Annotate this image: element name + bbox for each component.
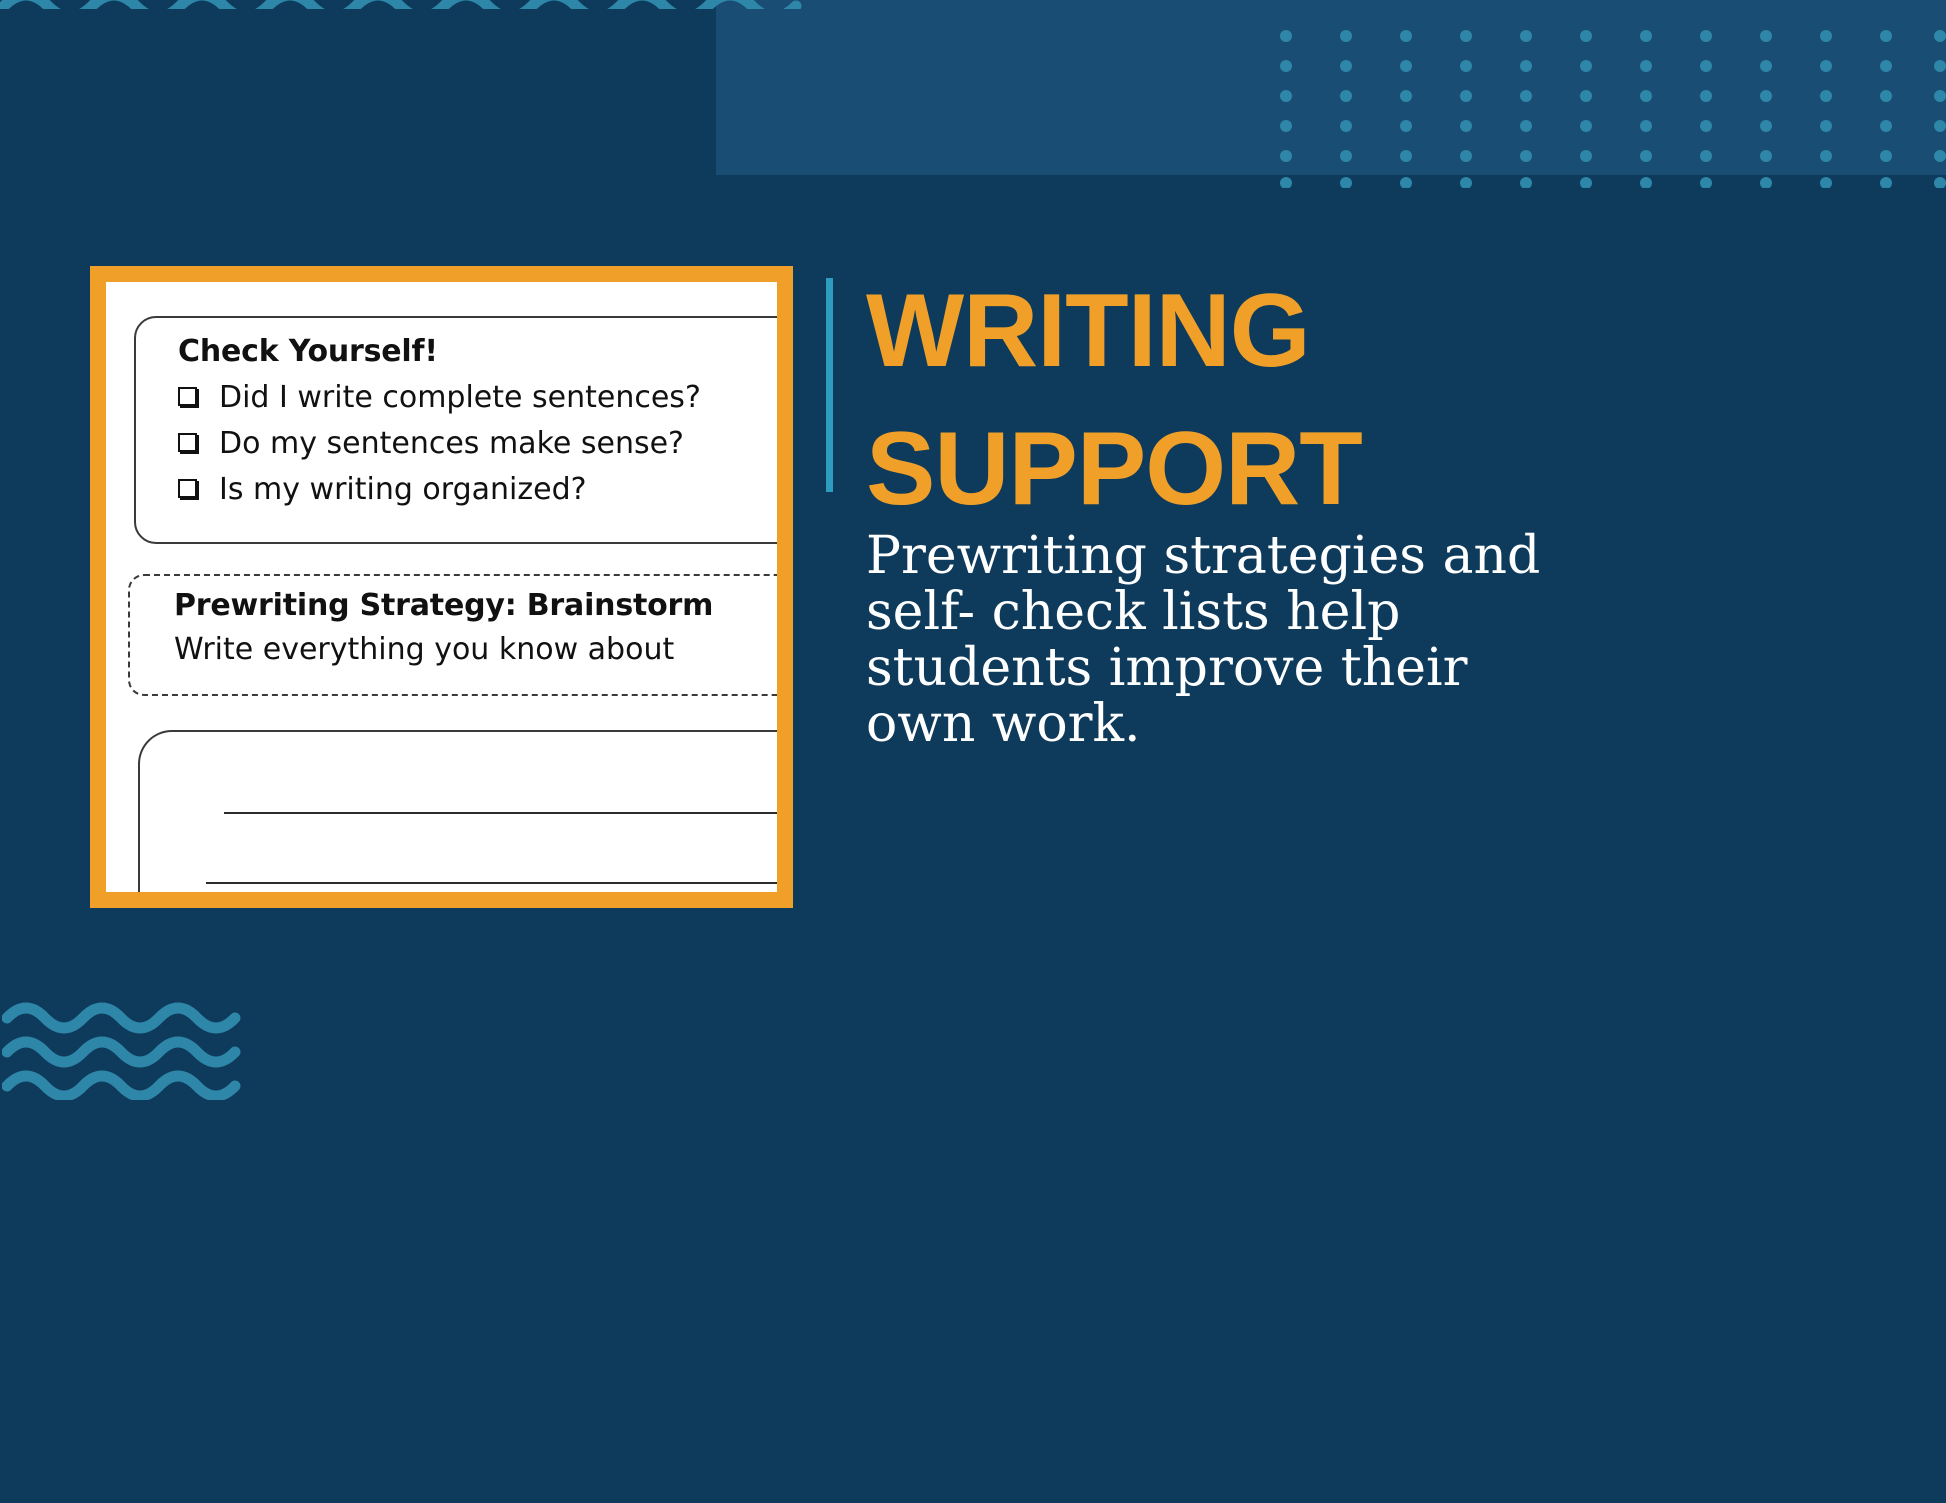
- prewriting-instruction: Write everything you know about: [174, 632, 674, 667]
- checklist-item-label: Do my sentences make sense?: [219, 426, 684, 461]
- body-paragraph: Prewriting strategies and self- check li…: [866, 528, 1546, 752]
- checkbox-icon: [178, 433, 197, 452]
- prewriting-heading: Prewriting Strategy: Brainstorm: [174, 588, 713, 623]
- checklist-item: Is my writing organized?: [178, 472, 587, 507]
- title-accent-bar: [826, 278, 833, 492]
- checklist-item: Did I write complete sentences?: [178, 380, 701, 415]
- page-title-line-1: WRITING: [866, 262, 1886, 400]
- wave-decoration: [2, 1000, 252, 1100]
- worksheet-image: Check Yourself! Did I write complete sen…: [106, 282, 777, 892]
- page-title-line-2: SUPPORT: [866, 400, 1886, 538]
- top-wave-decoration: [0, 0, 816, 9]
- writing-line: [224, 812, 777, 814]
- checklist-item: Do my sentences make sense?: [178, 426, 684, 461]
- dot-grid-decoration: [1280, 28, 1946, 188]
- checklist-item-label: Did I write complete sentences?: [219, 380, 701, 415]
- worksheet-image-card: Check Yourself! Did I write complete sen…: [90, 266, 793, 908]
- writing-line: [206, 882, 777, 884]
- writing-lines-box: [138, 730, 777, 892]
- checklist-item-label: Is my writing organized?: [219, 472, 587, 507]
- worksheet-page: Check Yourself! Did I write complete sen…: [106, 282, 777, 892]
- checkbox-icon: [178, 387, 197, 406]
- checkbox-icon: [178, 479, 197, 498]
- checklist-heading: Check Yourself!: [178, 334, 438, 369]
- page-title: WRITING SUPPORT: [866, 262, 1886, 538]
